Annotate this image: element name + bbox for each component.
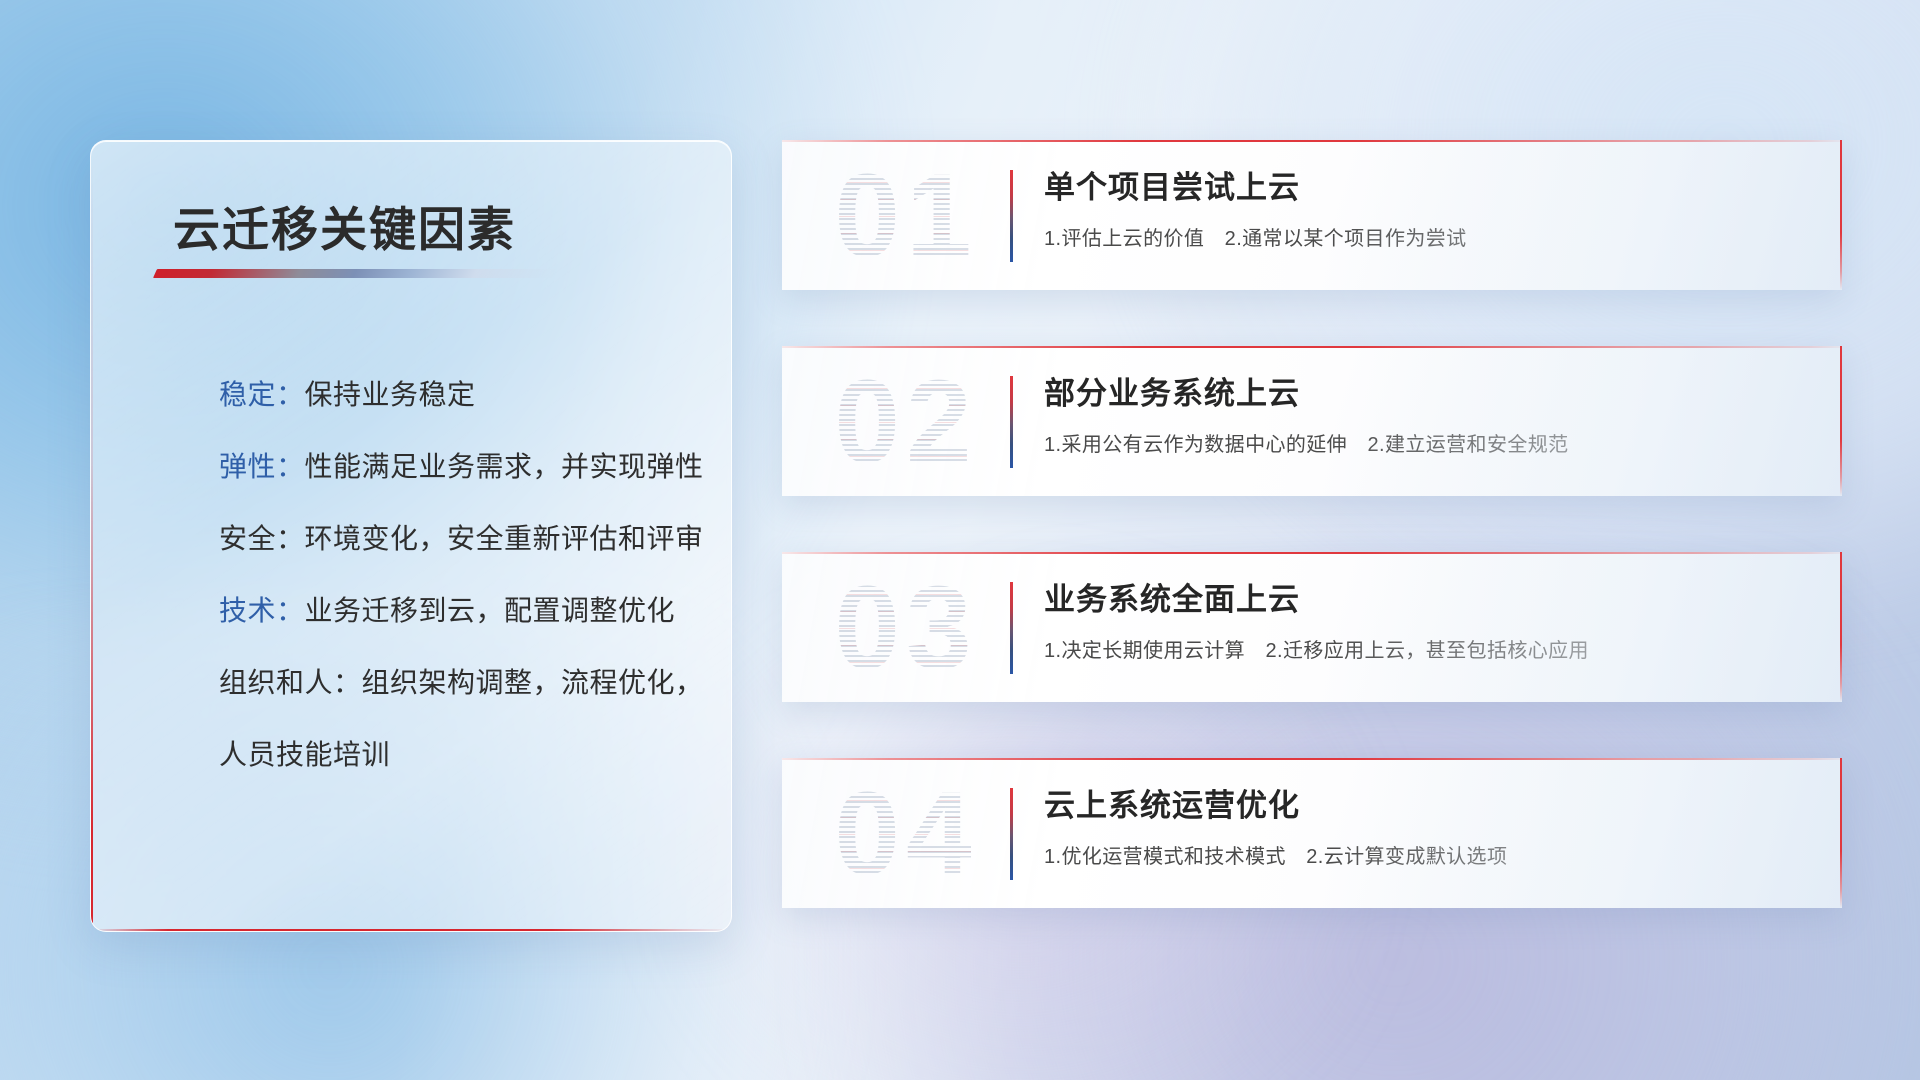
stage-cards-list: 01 01 单个项目尝试上云 1.评估上云的价值 2.通常以某个项目作为尝试 0… bbox=[782, 140, 1842, 964]
list-item-text: 组织架构调整，流程优化， bbox=[362, 667, 704, 698]
list-item: 弹性：性能满足业务需求，并实现弹性 bbox=[119, 431, 713, 503]
stage-card-title: 云上系统运营优化 bbox=[1044, 780, 1300, 825]
key-factors-list: 稳定：保持业务稳定 弹性：性能满足业务需求，并实现弹性 安全：环境变化，安全重新… bbox=[119, 359, 713, 791]
list-item: 组织和人：组织架构调整，流程优化， bbox=[119, 647, 713, 719]
stage-card[interactable]: 03 03 业务系统全面上云 1.决定长期使用云计算 2.迁移应用上云，甚至包括… bbox=[782, 552, 1842, 702]
accent-bar bbox=[1010, 582, 1013, 674]
stage-number-ghost: 02 bbox=[806, 354, 1006, 490]
list-item: 技术：业务迁移到云，配置调整优化 bbox=[119, 575, 713, 647]
stage-card-title: 单个项目尝试上云 bbox=[1044, 162, 1300, 207]
list-item-text: 人员技能培训 bbox=[219, 739, 390, 770]
accent-bar bbox=[1010, 376, 1013, 468]
list-item-label: 组织和人： bbox=[219, 667, 362, 698]
list-item: 人员技能培训 bbox=[119, 719, 713, 791]
accent-bar bbox=[1010, 170, 1013, 262]
stage-card-description: 1.优化运营模式和技术模式 2.云计算变成默认选项 bbox=[1044, 840, 1507, 869]
list-item: 安全：环境变化，安全重新评估和评审 bbox=[119, 503, 713, 575]
list-item-text: 保持业务稳定 bbox=[305, 379, 476, 410]
list-item-label: 弹性： bbox=[219, 451, 305, 482]
list-item-label: 安全： bbox=[219, 523, 305, 554]
stage-number-ghost: 04 bbox=[806, 766, 1006, 902]
list-item-text: 环境变化，安全重新评估和评审 bbox=[305, 523, 704, 554]
key-factors-panel: 云迁移关键因素 稳定：保持业务稳定 弹性：性能满足业务需求，并实现弹性 安全：环… bbox=[90, 140, 732, 932]
stage-number-ghost: 03 bbox=[806, 560, 1006, 696]
list-item-text: 业务迁移到云，配置调整优化 bbox=[305, 595, 676, 626]
stage-card-title: 业务系统全面上云 bbox=[1044, 574, 1300, 619]
stage-card[interactable]: 02 02 部分业务系统上云 1.采用公有云作为数据中心的延伸 2.建立运营和安… bbox=[782, 346, 1842, 496]
list-item-label: 技术： bbox=[219, 595, 305, 626]
stage-number-ghost: 01 bbox=[806, 148, 1006, 284]
accent-bar bbox=[1010, 788, 1013, 880]
list-item-text: 性能满足业务需求，并实现弹性 bbox=[305, 451, 704, 482]
list-item: 稳定：保持业务稳定 bbox=[119, 359, 713, 431]
stage-card[interactable]: 01 01 单个项目尝试上云 1.评估上云的价值 2.通常以某个项目作为尝试 bbox=[782, 140, 1842, 290]
title-underline-gradient bbox=[153, 269, 557, 278]
stage-card[interactable]: 04 04 云上系统运营优化 1.优化运营模式和技术模式 2.云计算变成默认选项 bbox=[782, 758, 1842, 908]
stage-card-description: 1.决定长期使用云计算 2.迁移应用上云，甚至包括核心应用 bbox=[1044, 634, 1589, 663]
stage-card-description: 1.采用公有云作为数据中心的延伸 2.建立运营和安全规范 bbox=[1044, 428, 1569, 457]
page-title: 云迁移关键因素 bbox=[173, 191, 516, 260]
stage-card-description: 1.评估上云的价值 2.通常以某个项目作为尝试 bbox=[1044, 222, 1467, 251]
stage-card-title: 部分业务系统上云 bbox=[1044, 368, 1300, 413]
list-item-label: 稳定： bbox=[219, 379, 305, 410]
